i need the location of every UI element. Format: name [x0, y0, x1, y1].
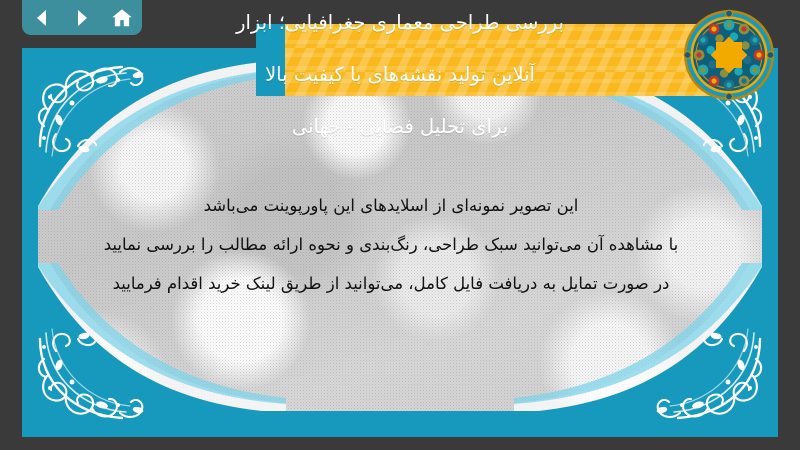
body-line: در صورت تمایل به دریافت فایل کامل، می‌تو… [22, 264, 760, 303]
presentation-slide: این تصویر نمونه‌ای از اسلایدهای این پاور… [22, 48, 778, 437]
navigation-bar [22, 0, 142, 35]
forward-icon [72, 8, 92, 28]
home-icon [111, 7, 133, 29]
home-button[interactable] [107, 3, 137, 33]
body-line: این تصویر نمونه‌ای از اسلایدهای این پاور… [22, 186, 760, 225]
back-icon [32, 8, 52, 28]
slide-body-text: این تصویر نمونه‌ای از اسلایدهای این پاور… [22, 186, 760, 303]
forward-button[interactable] [67, 3, 97, 33]
screenshot-viewport: این تصویر نمونه‌ای از اسلایدهای این پاور… [0, 0, 800, 450]
back-button[interactable] [27, 3, 57, 33]
body-line: با مشاهده آن می‌توانید سبک طراحی، رنگ‌بن… [22, 225, 760, 264]
